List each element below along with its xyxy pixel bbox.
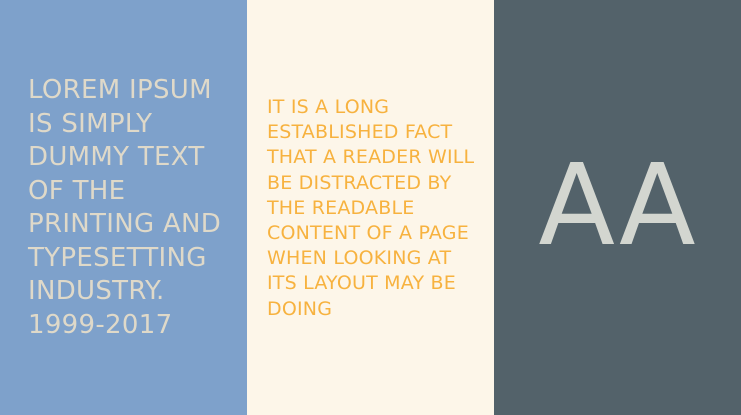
font-specimen-root: LOREM IPSUM IS SIMPLY DUMMY TEXT OF THE … bbox=[0, 0, 741, 415]
glyph-preview-text: AA bbox=[538, 150, 696, 262]
established-fact-sample-text: IT IS A LONG ESTABLISHED FACT THAT A REA… bbox=[267, 95, 482, 322]
specimen-panel-blue: LOREM IPSUM IS SIMPLY DUMMY TEXT OF THE … bbox=[0, 0, 247, 415]
specimen-panel-cream: IT IS A LONG ESTABLISHED FACT THAT A REA… bbox=[247, 0, 494, 415]
specimen-panel-dark: AA bbox=[494, 0, 741, 415]
lorem-ipsum-sample-text: LOREM IPSUM IS SIMPLY DUMMY TEXT OF THE … bbox=[28, 74, 228, 342]
